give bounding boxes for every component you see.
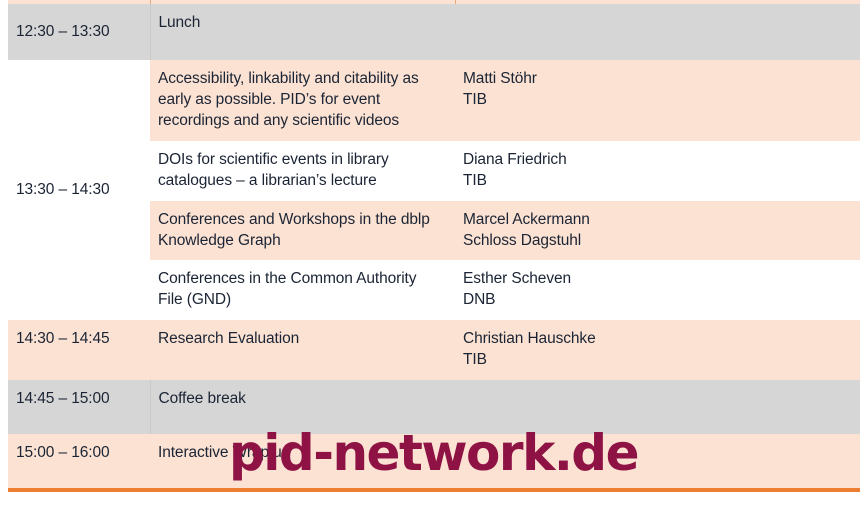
- table-row[interactable]: 13:30 – 14:30 Accessibility, linkability…: [8, 60, 860, 141]
- speaker-name: Christian Hauschke: [463, 330, 596, 347]
- row-time-group: 13:30 – 14:30: [8, 60, 150, 320]
- speaker-name: Diana Friedrich: [463, 151, 567, 168]
- speaker-name: Marcel Ackermann: [463, 211, 590, 228]
- row-time: 14:45 – 15:00: [8, 380, 150, 434]
- row-title: Lunch: [150, 4, 455, 60]
- row-title: Conferences and Workshops in the dblp Kn…: [150, 201, 455, 261]
- speaker-org: TIB: [463, 171, 850, 192]
- speaker-name: Matti Stöhr: [463, 70, 537, 87]
- speaker-org: DNB: [463, 290, 850, 311]
- row-title: Accessibility, linkability and citabilit…: [150, 60, 455, 141]
- row-speaker: Diana FriedrichTIB: [455, 141, 860, 201]
- schedule-container: 12:30 – 13:30 Lunch 13:30 – 14:30 Access…: [8, 0, 860, 492]
- row-title: Research Evaluation: [150, 320, 455, 380]
- speaker-org: Schloss Dagstuhl: [463, 231, 850, 252]
- row-speaker: Marcel AckermannSchloss Dagstuhl: [455, 201, 860, 261]
- row-speaker: Esther SchevenDNB: [455, 260, 860, 320]
- speaker-org: TIB: [463, 350, 850, 371]
- table-row[interactable]: 12:30 – 13:30 Lunch: [8, 4, 860, 60]
- speaker-name: Esther Scheven: [463, 270, 571, 287]
- row-title: Conferences in the Common Authority File…: [150, 260, 455, 320]
- row-speaker: [455, 4, 860, 60]
- speaker-org: TIB: [463, 90, 850, 111]
- slide-root: 12:30 – 13:30 Lunch 13:30 – 14:30 Access…: [0, 0, 867, 514]
- table-row[interactable]: 14:30 – 14:45 Research Evaluation Christ…: [8, 320, 860, 380]
- row-speaker: Christian HauschkeTIB: [455, 320, 860, 380]
- row-time: 12:30 – 13:30: [8, 4, 150, 60]
- row-title: DOIs for scientific events in library ca…: [150, 141, 455, 201]
- schedule-table: 12:30 – 13:30 Lunch 13:30 – 14:30 Access…: [8, 0, 860, 492]
- row-speaker: Matti StöhrTIB: [455, 60, 860, 141]
- brand-wordmark: pid-network.de: [0, 428, 867, 478]
- row-time: 14:30 – 14:45: [8, 320, 150, 380]
